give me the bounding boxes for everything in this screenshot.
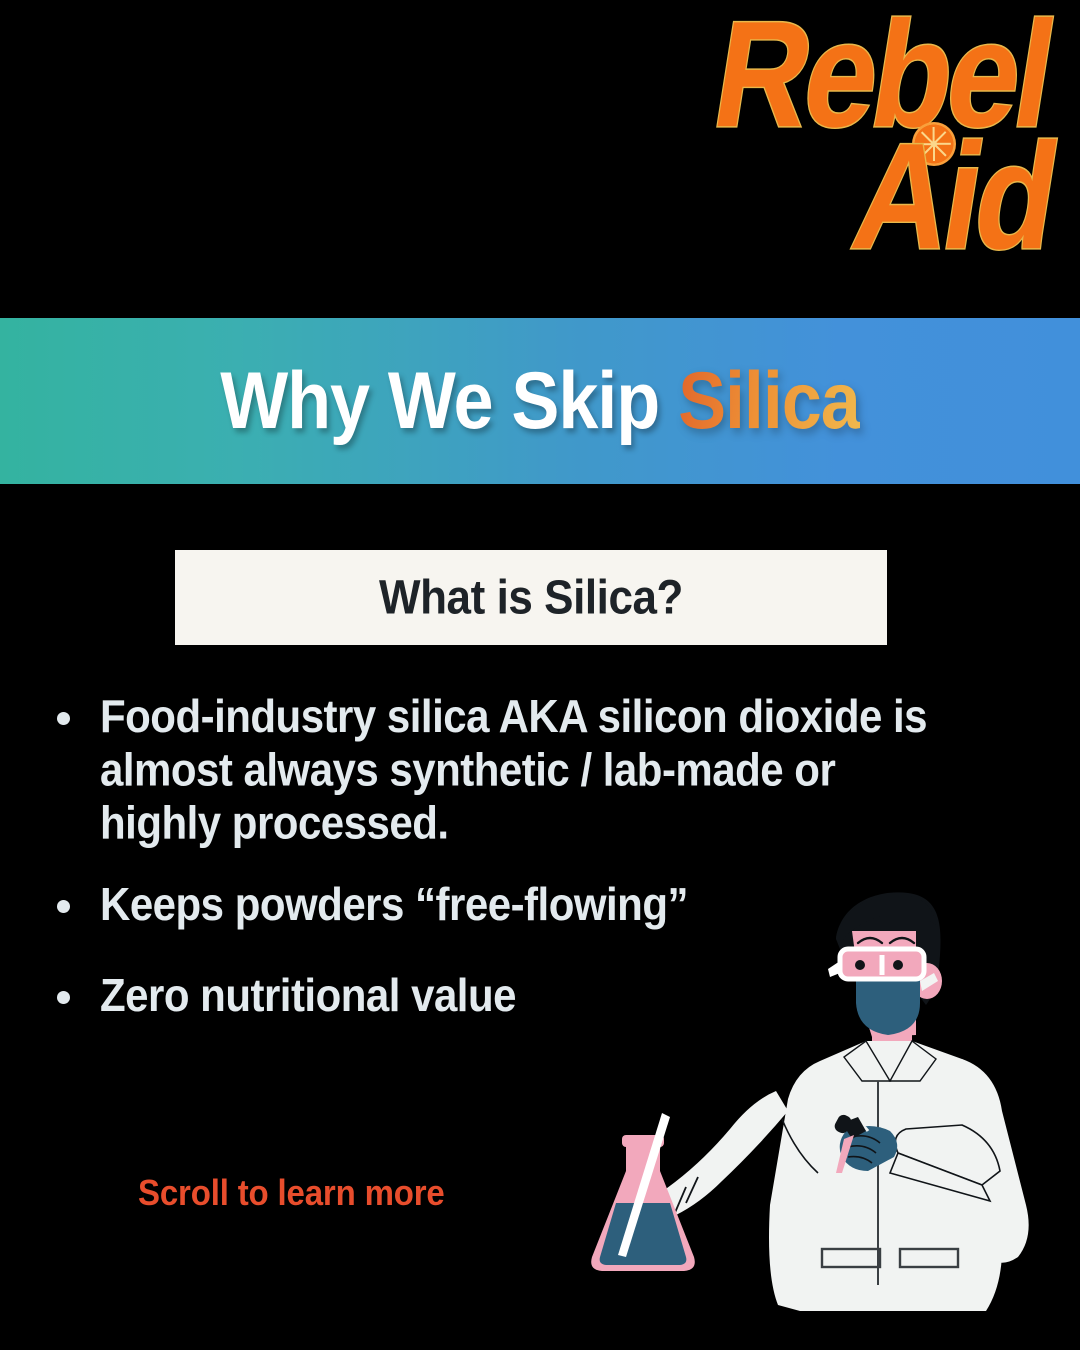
page-title-accent: Silica — [678, 356, 860, 446]
safety-goggles-icon — [828, 949, 924, 979]
poster-canvas: Rebel Aid Why We Skip Silica What is Sil… — [0, 0, 1080, 1350]
list-item: Food-industry silica AKA silicon dioxide… — [45, 690, 965, 836]
page-title: Why We Skip Silica — [220, 355, 859, 447]
logo-wordmark-line2: Aid — [846, 132, 1062, 262]
bullet-dot-icon — [57, 712, 70, 725]
page-title-primary: Why We Skip — [220, 356, 659, 446]
bullet-dot-icon — [57, 900, 70, 913]
bullet-dot-icon — [57, 991, 70, 1004]
scroll-cta-label: Scroll to learn more — [138, 1172, 445, 1214]
title-banner: Why We Skip Silica — [0, 318, 1080, 484]
logo-wordmark-line2-row: Aid — [702, 150, 1042, 262]
brand-logo[interactable]: Rebel Aid — [702, 28, 1042, 288]
scientist-with-flask-illustration — [590, 885, 1080, 1350]
scientist-figure — [591, 892, 1028, 1311]
subhead-label: What is Silica? — [379, 570, 683, 625]
bullet-text: Zero nutritional value — [100, 969, 516, 1023]
subhead-box: What is Silica? — [175, 550, 887, 645]
bullet-text: Food-industry silica AKA silicon dioxide… — [100, 690, 960, 851]
